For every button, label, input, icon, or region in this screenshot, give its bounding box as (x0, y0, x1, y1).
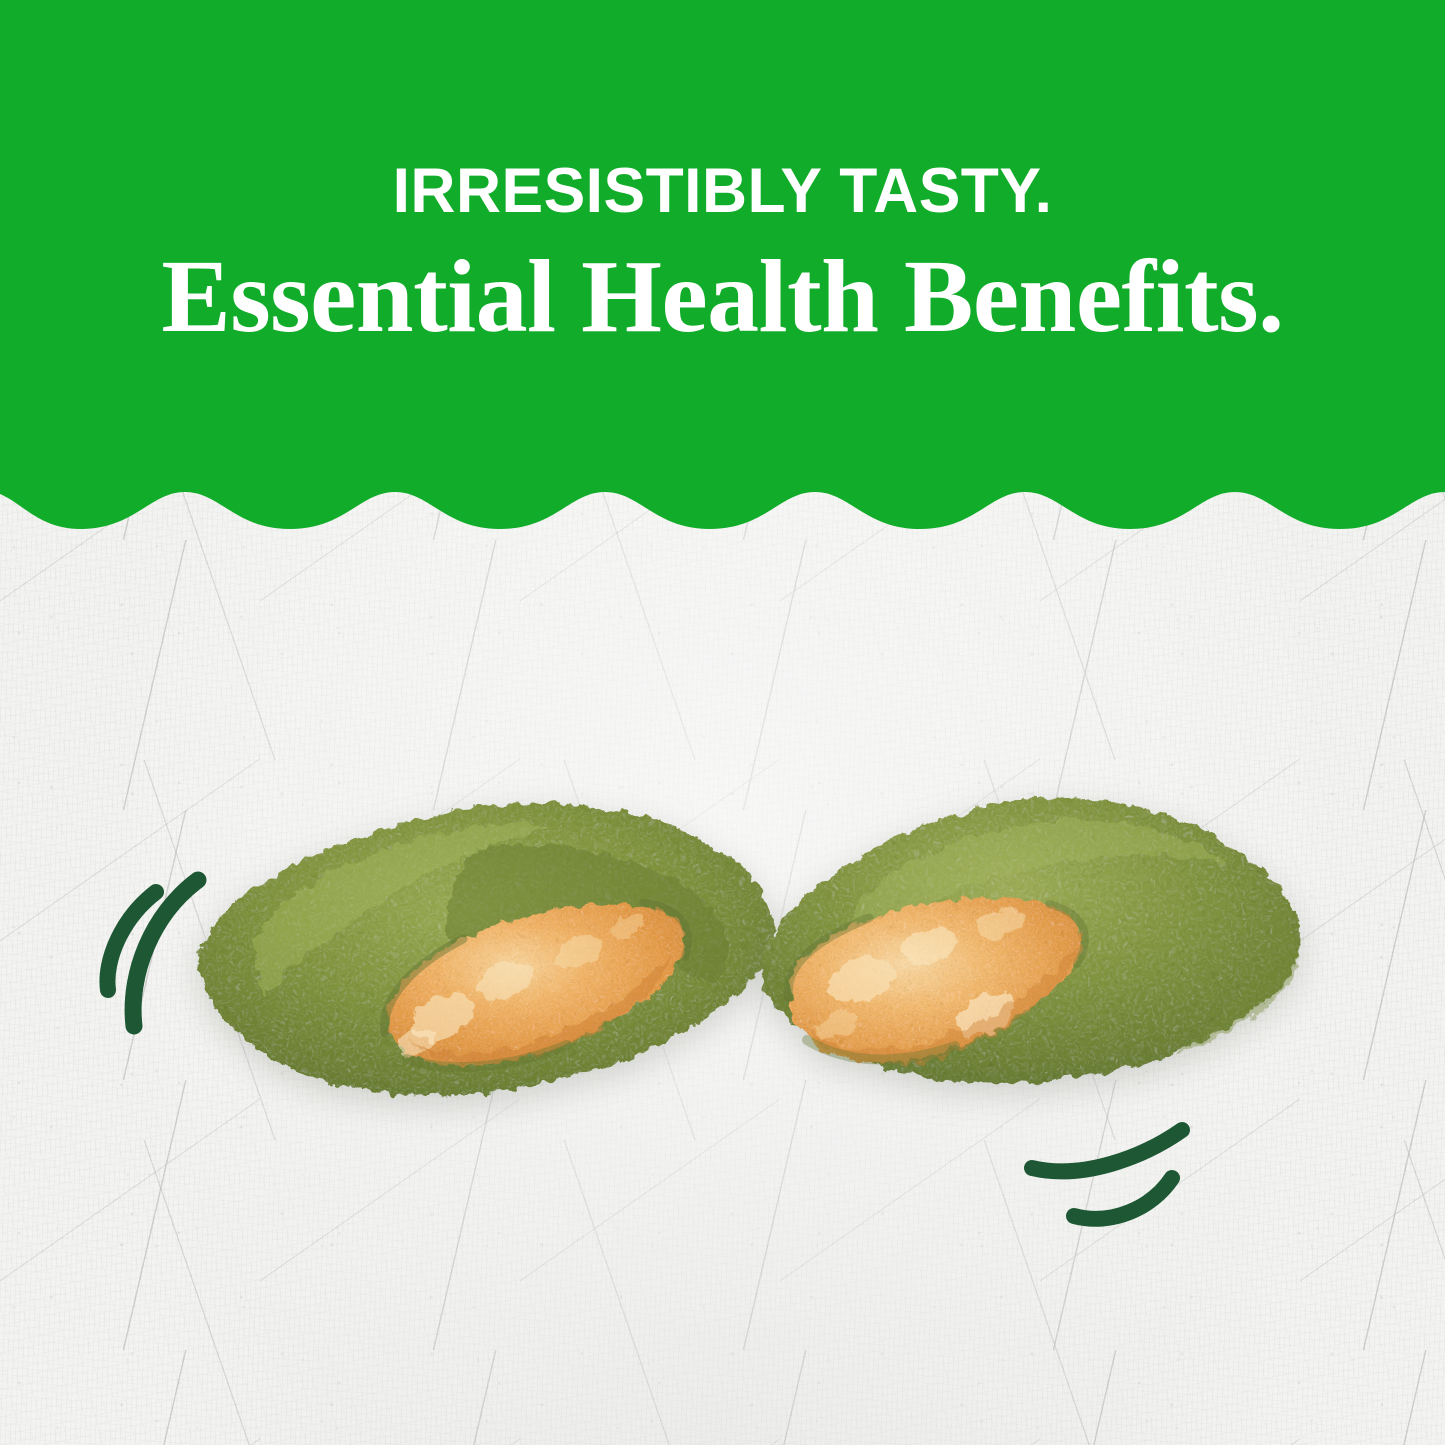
motion-lines-left (86, 868, 216, 1043)
chew-right-half (745, 768, 1325, 1118)
banner-canvas: IRRESISTIBLY TASTY. Essential Health Ben… (0, 0, 1445, 1445)
header-band: IRRESISTIBLY TASTY. Essential Health Ben… (0, 0, 1445, 540)
headline-title: Essential Health Benefits. (0, 245, 1445, 349)
motion-lines-right (1020, 1122, 1200, 1232)
headline-eyebrow: IRRESISTIBLY TASTY. (7, 160, 1438, 223)
swoosh-line-lower (1074, 1178, 1172, 1219)
chew-left-half (175, 775, 795, 1125)
swoosh-line-upper (1032, 1130, 1182, 1171)
product-photo-area (0, 540, 1445, 1445)
